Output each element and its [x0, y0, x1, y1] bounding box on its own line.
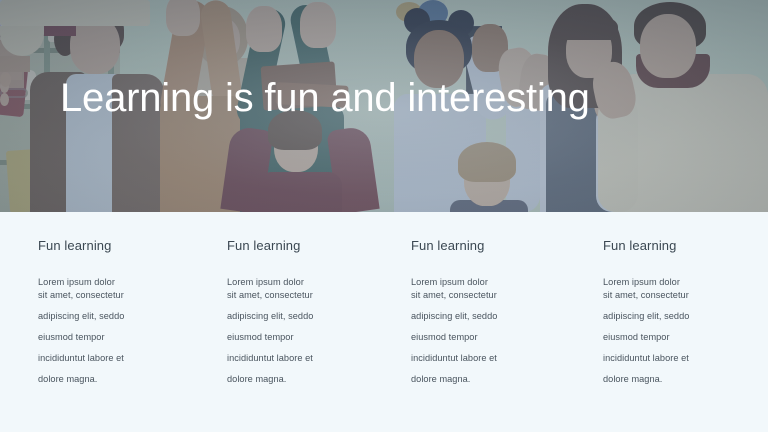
body-line: Lorem ipsum dolor [227, 276, 387, 289]
body-line: eiusmod tempor [38, 331, 198, 344]
body-line: sit amet, consectetur [603, 289, 763, 302]
body-line: Lorem ipsum dolor [603, 276, 763, 289]
body-line: sit amet, consectetur [38, 289, 198, 302]
body-line: incididuntut labore et [411, 352, 571, 365]
body-line: dolore magna. [411, 373, 571, 386]
feature-heading: Fun learning [603, 238, 676, 253]
features-section: Fun learning Lorem ipsum dolor sit amet,… [0, 212, 768, 432]
body-line: dolore magna. [38, 373, 198, 386]
body-line: sit amet, consectetur [227, 289, 387, 302]
body-line: adipiscing elit, seddo [603, 310, 763, 323]
page-title: Learning is fun and interesting [60, 76, 720, 120]
feature-body: Lorem ipsum dolor sit amet, consectetur … [227, 276, 387, 386]
body-line: sit amet, consectetur [411, 289, 571, 302]
body-line: eiusmod tempor [411, 331, 571, 344]
body-line: dolore magna. [603, 373, 763, 386]
body-line: incididuntut labore et [603, 352, 763, 365]
feature-columns: Fun learning Lorem ipsum dolor sit amet,… [38, 212, 768, 432]
feature-body: Lorem ipsum dolor sit amet, consectetur … [411, 276, 571, 386]
body-line: Lorem ipsum dolor [38, 276, 198, 289]
body-line: eiusmod tempor [603, 331, 763, 344]
body-line: incididuntut labore et [227, 352, 387, 365]
feature-heading: Fun learning [227, 238, 300, 253]
body-line: adipiscing elit, seddo [227, 310, 387, 323]
body-line: Lorem ipsum dolor [411, 276, 571, 289]
body-line: eiusmod tempor [227, 331, 387, 344]
feature-body: Lorem ipsum dolor sit amet, consectetur … [603, 276, 763, 386]
body-line: dolore magna. [227, 373, 387, 386]
feature-body: Lorem ipsum dolor sit amet, consectetur … [38, 276, 198, 386]
hero-banner: Learning is fun and interesting [0, 0, 768, 212]
body-line: incididuntut labore et [38, 352, 198, 365]
feature-heading: Fun learning [411, 238, 484, 253]
feature-heading: Fun learning [38, 238, 111, 253]
body-line: adipiscing elit, seddo [411, 310, 571, 323]
body-line: adipiscing elit, seddo [38, 310, 198, 323]
presentation-slide: Learning is fun and interesting Fun lear… [0, 0, 768, 432]
